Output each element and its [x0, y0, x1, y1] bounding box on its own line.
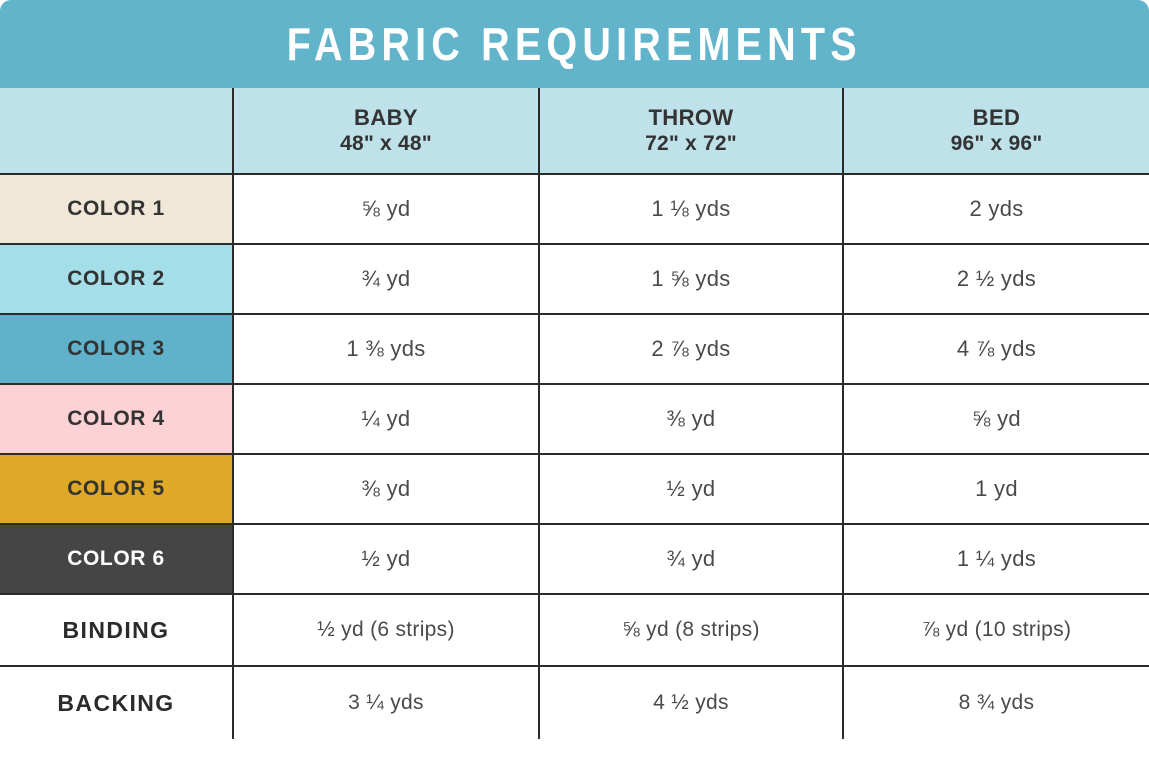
cell-throw: ⅜ yd: [538, 385, 842, 453]
cell-baby: 1 ⅜ yds: [232, 315, 538, 383]
cell-baby: ½ yd: [232, 525, 538, 593]
color-swatch-label: COLOR 1: [0, 175, 232, 243]
header-corner-cell: [0, 88, 232, 173]
color-swatch-label: COLOR 2: [0, 245, 232, 313]
row-label: COLOR 4: [67, 407, 165, 431]
row-label-binding: BINDING: [0, 595, 232, 665]
column-header-throw-size: 72" x 72": [645, 131, 737, 157]
cell-throw: ¾ yd: [538, 525, 842, 593]
cell-bed: 8 ¾ yds: [842, 667, 1149, 739]
table-row: COLOR 1 ⅝ yd 1 ⅛ yds 2 yds: [0, 175, 1149, 245]
cell-bed: 1 ¼ yds: [842, 525, 1149, 593]
cell-baby: ⅝ yd: [232, 175, 538, 243]
cell-bed: 4 ⅞ yds: [842, 315, 1149, 383]
column-header-bed-size: 96" x 96": [951, 131, 1043, 157]
cell-baby: ¾ yd: [232, 245, 538, 313]
cell-baby: 3 ¼ yds: [232, 667, 538, 739]
cell-throw: 1 ⅝ yds: [538, 245, 842, 313]
size-header-row: BABY 48" x 48" THROW 72" x 72" BED 96" x…: [0, 88, 1149, 175]
table-row: COLOR 5 ⅜ yd ½ yd 1 yd: [0, 455, 1149, 525]
table-row: COLOR 3 1 ⅜ yds 2 ⅞ yds 4 ⅞ yds: [0, 315, 1149, 385]
cell-bed: ⅞ yd (10 strips): [842, 595, 1149, 665]
cell-throw: ½ yd: [538, 455, 842, 523]
column-header-bed: BED 96" x 96": [842, 88, 1149, 173]
row-label: COLOR 6: [67, 547, 165, 571]
cell-bed: ⅝ yd: [842, 385, 1149, 453]
cell-bed: 2 ½ yds: [842, 245, 1149, 313]
table-row: COLOR 2 ¾ yd 1 ⅝ yds 2 ½ yds: [0, 245, 1149, 315]
table-row: BACKING 3 ¼ yds 4 ½ yds 8 ¾ yds: [0, 667, 1149, 739]
column-header-throw: THROW 72" x 72": [538, 88, 842, 173]
color-swatch-label: COLOR 6: [0, 525, 232, 593]
cell-bed: 1 yd: [842, 455, 1149, 523]
row-label: COLOR 3: [67, 337, 165, 361]
table-row: COLOR 6 ½ yd ¾ yd 1 ¼ yds: [0, 525, 1149, 595]
cell-throw: 2 ⅞ yds: [538, 315, 842, 383]
row-label: COLOR 1: [67, 197, 165, 221]
cell-throw: ⅝ yd (8 strips): [538, 595, 842, 665]
table-title-banner: FABRIC REQUIREMENTS: [0, 0, 1149, 88]
column-header-baby: BABY 48" x 48": [232, 88, 538, 173]
row-label: COLOR 5: [67, 477, 165, 501]
cell-throw: 4 ½ yds: [538, 667, 842, 739]
cell-baby: ½ yd (6 strips): [232, 595, 538, 665]
column-header-baby-size: 48" x 48": [340, 131, 432, 157]
table-row: BINDING ½ yd (6 strips) ⅝ yd (8 strips) …: [0, 595, 1149, 667]
column-header-bed-name: BED: [973, 104, 1021, 131]
fabric-requirements-table: FABRIC REQUIREMENTS BABY 48" x 48" THROW…: [0, 0, 1149, 765]
color-swatch-label: COLOR 3: [0, 315, 232, 383]
row-label-backing: BACKING: [0, 667, 232, 739]
cell-baby: ⅜ yd: [232, 455, 538, 523]
cell-baby: ¼ yd: [232, 385, 538, 453]
row-label: COLOR 2: [67, 267, 165, 291]
table-row: COLOR 4 ¼ yd ⅜ yd ⅝ yd: [0, 385, 1149, 455]
color-swatch-label: COLOR 5: [0, 455, 232, 523]
cell-bed: 2 yds: [842, 175, 1149, 243]
color-swatch-label: COLOR 4: [0, 385, 232, 453]
column-header-throw-name: THROW: [648, 104, 733, 131]
page-title: FABRIC REQUIREMENTS: [287, 21, 862, 67]
row-label: BACKING: [57, 690, 174, 717]
cell-throw: 1 ⅛ yds: [538, 175, 842, 243]
column-header-baby-name: BABY: [354, 104, 418, 131]
row-label: BINDING: [63, 617, 170, 644]
